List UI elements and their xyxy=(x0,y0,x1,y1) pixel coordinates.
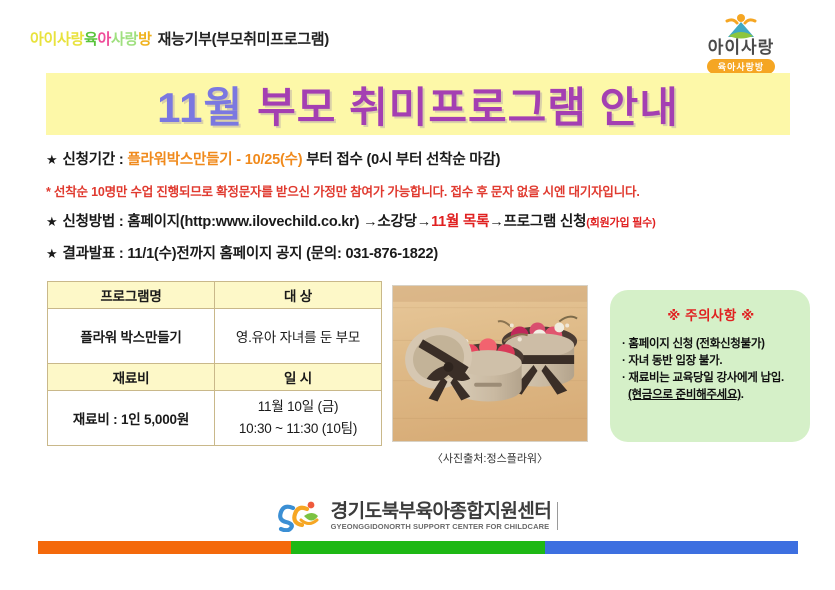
info-result-announcement: ★결과발표 : 11/1(수)전까지 홈페이지 공지 (문의: 031-876-… xyxy=(46,242,438,263)
logo-name: 아이사랑 xyxy=(681,39,801,57)
notice-item: · 자녀 동반 입장 불가. xyxy=(622,353,800,370)
star-icon: ★ xyxy=(46,152,57,167)
footer-color-bar xyxy=(38,541,798,554)
info-warning: * 선착순 10명만 수업 진행되므로 확정문자를 받으신 가정만 참여가 가능… xyxy=(46,181,640,200)
brand-part-2: 육 xyxy=(84,31,98,48)
table-cell-material-fee: 재료비 : 1인 5,000원 xyxy=(48,391,215,446)
flower-box-photo xyxy=(392,285,588,442)
table-cell-datetime: 11월 10일 (금) 10:30 ~ 11:30 (10팀) xyxy=(215,391,382,446)
method-label: 신청방법 : xyxy=(62,214,127,230)
table-header-material-fee: 재료비 xyxy=(48,364,215,391)
table-row: 플라워 박스만들기 영.유아 자녀를 둔 부모 xyxy=(48,309,382,364)
period-label: 신청기간 : xyxy=(62,152,127,168)
notice-sub-underlined: (현금으로 준비해주세요) xyxy=(628,389,741,401)
info-application-method: ★신청방법 : 홈페이지(http:www.ilovechild.co.kr) … xyxy=(46,210,656,231)
method-part1: 홈페이지(http:www.ilovechild.co.kr) →소강당→ xyxy=(127,214,431,230)
info-application-period: ★신청기간 : 플라워박스만들기 - 10/25(수) 부터 접수 (0시 부터… xyxy=(46,148,500,169)
star-icon: ★ xyxy=(46,214,57,229)
title-month: 11월 xyxy=(157,84,243,131)
table-header-datetime: 일 시 xyxy=(215,364,382,391)
poster-root: 아이사랑육아사랑방재능기부(부모취미프로그램) 아이사랑 육아사랑방 11월부모… xyxy=(0,0,835,590)
footer-name-english: GYEONGGIDONORTH SUPPORT CENTER FOR CHILD… xyxy=(331,523,552,531)
logo-badge: 육아사랑방 xyxy=(707,59,775,74)
method-part2: →프로그램 신청 xyxy=(489,214,586,230)
table-header-target: 대 상 xyxy=(215,282,382,309)
notice-sub-tail: . xyxy=(741,389,744,401)
page-title: 11월부모 취미프로그램 안내 xyxy=(157,74,679,135)
period-tail: 부터 접수 (0시 부터 선착순 마감) xyxy=(302,152,500,168)
datetime-date: 11월 10일 (금) xyxy=(216,396,380,418)
notice-title: ※ 주의사항 ※ xyxy=(622,304,800,324)
color-bar-segment-green xyxy=(291,541,545,554)
sc-logo-icon xyxy=(277,500,323,532)
title-rest: 부모 취미프로그램 안내 xyxy=(257,84,679,131)
result-text: 결과발표 : 11/1(수)전까지 홈페이지 공지 (문의: 031-876-1… xyxy=(62,246,438,262)
method-red2: (회원가입 필수) xyxy=(586,217,655,229)
notice-sub-item: (현금으로 준비해주세요). xyxy=(628,387,800,404)
color-bar-segment-blue xyxy=(545,541,798,554)
datetime-time: 10:30 ~ 11:30 (10팀) xyxy=(216,418,380,440)
table-row: 재료비 일 시 xyxy=(48,364,382,391)
notice-box: ※ 주의사항 ※ · 홈페이지 신청 (전화신청불가) · 자녀 동반 입장 불… xyxy=(610,290,810,442)
notice-item: · 홈페이지 신청 (전화신청불가) xyxy=(622,336,800,353)
photo-image xyxy=(392,285,588,442)
brand-part-5: 방 xyxy=(138,31,152,48)
brand-part-4: 사랑 xyxy=(111,31,138,48)
notice-item: · 재료비는 교육당일 강사에게 납입. xyxy=(622,370,800,387)
table-row: 프로그램명 대 상 xyxy=(48,282,382,309)
ilovechild-logo: 아이사랑 육아사랑방 xyxy=(681,14,801,76)
footer-name-korean: 경기도북부육아종합지원센터 xyxy=(331,502,552,521)
footer-center-logo: 경기도북부육아종합지원센터 GYEONGGIDONORTH SUPPORT CE… xyxy=(0,500,835,532)
header-subject: 재능기부(부모취미프로그램) xyxy=(158,31,329,48)
table-cell-program-name: 플라워 박스만들기 xyxy=(48,309,215,364)
table-header-program-name: 프로그램명 xyxy=(48,282,215,309)
table-row: 재료비 : 1인 5,000원 11월 10일 (금) 10:30 ~ 11:3… xyxy=(48,391,382,446)
period-highlight: 플라워박스만들기 - 10/25(수) xyxy=(127,152,302,168)
logo-figure-icon xyxy=(681,14,801,40)
footer-text: 경기도북부육아종합지원센터 GYEONGGIDONORTH SUPPORT CE… xyxy=(331,502,559,531)
method-red1: 11월 목록 xyxy=(431,214,489,230)
star-icon: ★ xyxy=(46,246,57,261)
table-cell-target: 영.유아 자녀를 둔 부모 xyxy=(215,309,382,364)
brand-header-line: 아이사랑육아사랑방재능기부(부모취미프로그램) xyxy=(30,28,329,49)
brand-part-1: 아이사랑 xyxy=(30,31,84,48)
color-bar-segment-orange xyxy=(38,541,291,554)
title-banner: 11월부모 취미프로그램 안내 xyxy=(46,73,790,135)
brand-part-3: 아 xyxy=(98,31,112,48)
photo-caption: 〈사진출처:정스플라워〉 xyxy=(392,450,588,466)
program-info-table: 프로그램명 대 상 플라워 박스만들기 영.유아 자녀를 둔 부모 재료비 일 … xyxy=(47,281,382,446)
